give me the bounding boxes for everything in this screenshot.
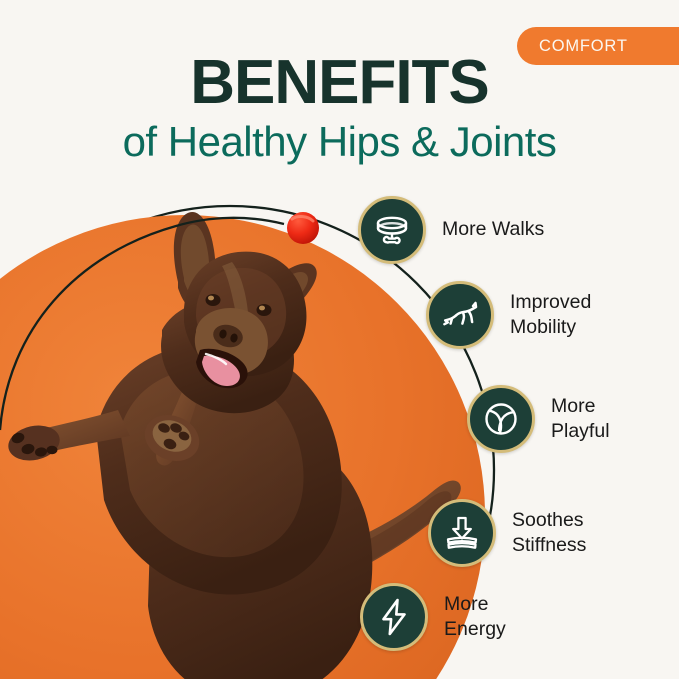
benefit-item-more-energy: More Energy <box>360 583 506 651</box>
benefit-icon-disc <box>360 583 428 651</box>
benefit-icon-disc <box>358 196 426 264</box>
comfort-badge-label: COMFORT <box>539 37 628 56</box>
benefits-poster: COMFORT BENEFITS of Healthy Hips & Joint… <box>0 0 679 679</box>
benefit-label: More Playful <box>551 394 610 445</box>
page-subtitle: of Healthy Hips & Joints <box>0 118 679 166</box>
lightning-bolt-icon <box>373 596 415 638</box>
benefit-item-improved-mobility: Improved Mobility <box>426 281 591 349</box>
benefit-item-more-playful: More Playful <box>467 385 610 453</box>
comfort-badge: COMFORT <box>517 27 679 65</box>
benefit-item-more-walks: More Walks <box>358 196 544 264</box>
benefit-item-soothes-stiffness: Soothes Stiffness <box>428 499 586 567</box>
benefit-icon-disc <box>426 281 494 349</box>
dog-collar-icon <box>371 209 413 251</box>
benefit-icon-disc <box>467 385 535 453</box>
benefit-label: Soothes Stiffness <box>512 508 586 559</box>
cushion-arrow-icon <box>441 512 483 554</box>
tennis-ball-icon <box>480 398 522 440</box>
benefit-label: More Walks <box>442 217 544 242</box>
benefit-icon-disc <box>428 499 496 567</box>
benefit-label: Improved Mobility <box>510 290 591 341</box>
dog-eye-left <box>206 294 221 306</box>
benefit-label: More Energy <box>444 592 506 643</box>
leaping-dog-icon <box>439 294 481 336</box>
dog-eye-right <box>257 304 272 316</box>
